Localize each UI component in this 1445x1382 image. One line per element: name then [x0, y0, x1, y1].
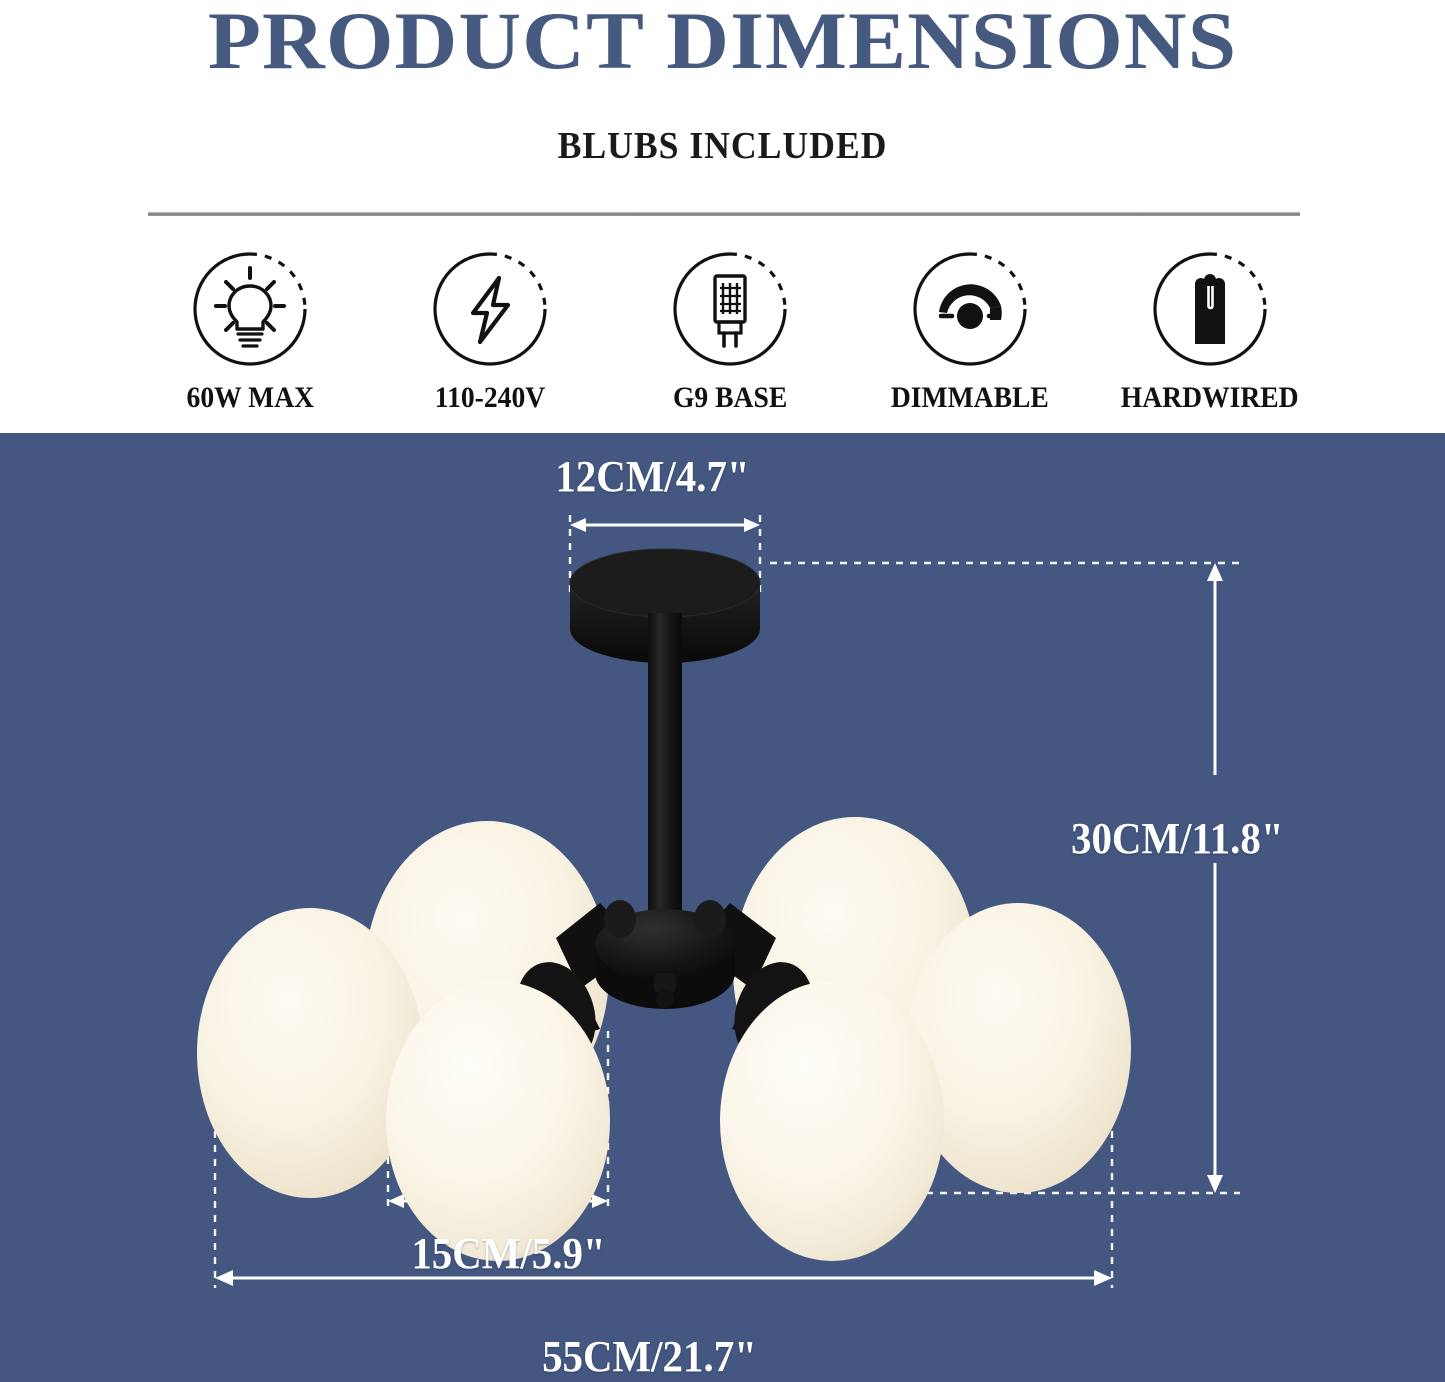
- dimension-label-height: 30CM/11.8": [1071, 813, 1284, 864]
- feature-dimmable: DIMMABLE: [870, 250, 1070, 415]
- feature-hardwired: HARDWIRED: [1110, 250, 1310, 415]
- globe-front-left: [386, 981, 610, 1261]
- feature-label: HARDWIRED: [1121, 381, 1299, 415]
- chandelier-dimension-drawing: [0, 433, 1445, 1382]
- feature-label: DIMMABLE: [891, 381, 1049, 415]
- specification-panel: PRODUCT DIMENSIONS BLUBS INCLUDED: [0, 0, 1445, 433]
- dimmer-dial-icon: [911, 250, 1029, 368]
- chandelier-fixture: [197, 549, 1131, 1261]
- bulbs-included-subtitle: BLUBS INCLUDED: [43, 124, 1401, 168]
- center-hub: [595, 900, 735, 1009]
- feature-label: 110-240V: [435, 381, 545, 415]
- feature-icon-row: 60W MAX 110-240V: [150, 250, 1310, 415]
- page-title: PRODUCT DIMENSIONS: [0, 0, 1445, 88]
- dimension-label-globe-diameter: 15CM/5.9": [411, 1228, 605, 1279]
- hardwire-cable-icon: [1151, 250, 1269, 368]
- feature-label: G9 BASE: [673, 381, 787, 415]
- g9-bulb-base-icon: [671, 250, 789, 368]
- feature-voltage: 110-240V: [390, 250, 590, 415]
- feature-label: 60W MAX: [186, 381, 314, 415]
- horizontal-divider: [148, 212, 1300, 216]
- product-dimensions-infographic: PRODUCT DIMENSIONS BLUBS INCLUDED: [0, 0, 1445, 1382]
- globe-front-right: [720, 981, 944, 1261]
- drop-rod: [648, 613, 682, 943]
- light-bulb-icon: [191, 250, 309, 368]
- dimension-label-total-width: 55CM/21.7": [542, 1331, 757, 1382]
- globe-left: [197, 908, 423, 1198]
- feature-base-type: G9 BASE: [630, 250, 830, 415]
- dimension-diagram-panel: 12CM/4.7" 30CM/11.8" 15CM/5.9" 55CM/21.7…: [0, 433, 1445, 1382]
- dimension-label-canopy-width: 12CM/4.7": [555, 451, 749, 502]
- lightning-bolt-icon: [431, 250, 549, 368]
- feature-wattage: 60W MAX: [150, 250, 350, 415]
